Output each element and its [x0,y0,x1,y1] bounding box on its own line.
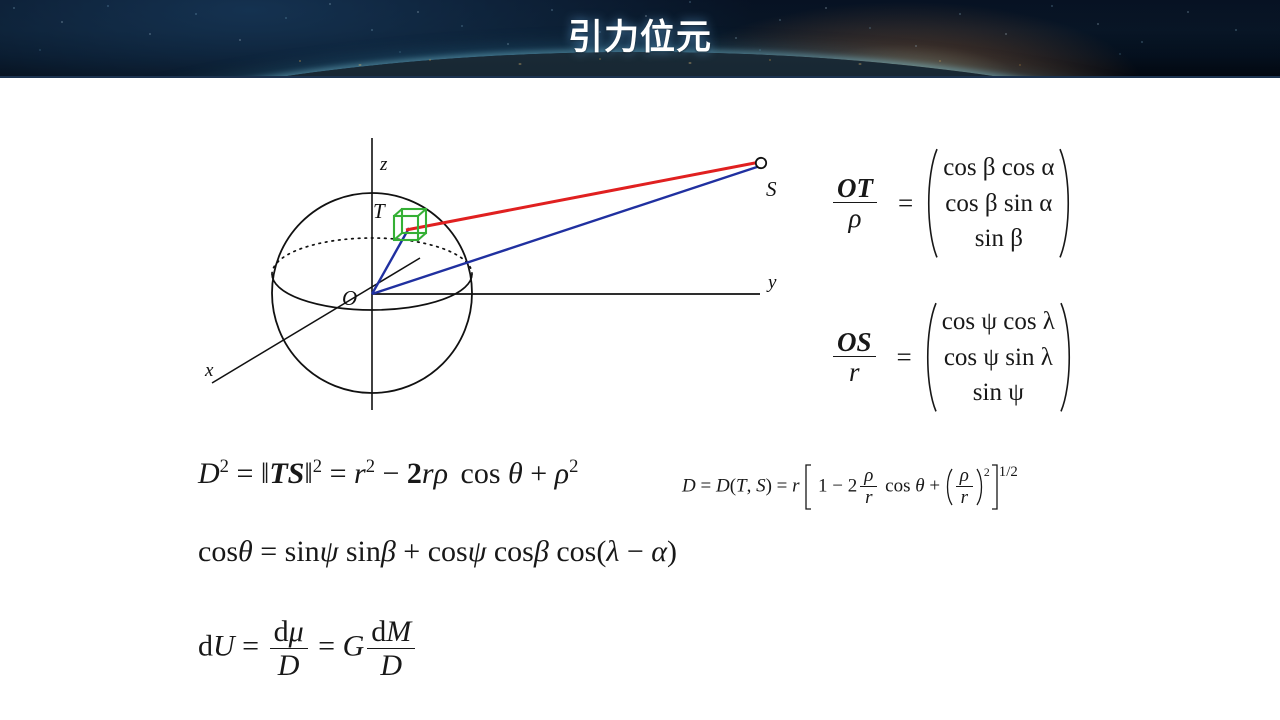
minus-sign-2: − [832,475,843,496]
sup-2d: 2 [569,456,578,477]
sym-beta-2: β [534,535,549,568]
segment-TS [406,162,760,230]
left-paren-rr [945,468,953,506]
sym-alpha-1: α [651,535,667,568]
cos-2: cos [885,475,910,496]
paren-open-la: ( [596,535,606,568]
left-bracket [804,464,813,510]
cos-3: cos [198,535,238,568]
os-components: cos ψ cos λ cos ψ sin λ sin ψ [938,300,1059,415]
eq-sign-3: = [700,475,711,496]
equation-distance-squared: D2 = ‖TS‖2 = r2 − 2rρ cos θ + ρ2 [198,456,578,491]
sym-rho-2: ρ [555,457,569,490]
sym-TS: TS [269,457,304,490]
slide-body: z y x O T S OT ρ = cos β cos α cos β sin… [0,78,1280,720]
ot-components: cos β cos α cos β sin α sin β [939,146,1058,261]
segment-OS [372,166,760,294]
sym-G: G [343,630,365,663]
d-operator-2: d [274,615,289,648]
sym-psi-1: ψ [320,535,339,568]
eq-sign-5: = [260,535,277,568]
z-axis-label: z [379,154,388,175]
equation-unit-vector-OS: OS r = cos ψ cos λ cos ψ sin λ sin ψ [830,300,1075,415]
sym-r-1: r [354,457,366,490]
const-1: 1 [818,475,828,496]
geometry-figure: z y x O T S [190,128,810,418]
d-mu-over-D: dμ D [270,616,308,682]
minus-sign-1: − [382,457,399,490]
sym-theta-1: θ [508,457,523,490]
os-denominator: r [833,356,876,387]
minus-sign-3: − [627,535,644,568]
eq-sign-4: = [777,475,788,496]
paren-close-ts: ) [766,475,772,496]
sym-r-2: r [422,457,434,490]
ot-component-3: sin β [975,221,1023,257]
coef-2b: 2 [848,475,858,496]
point-T-label: T [373,199,386,223]
eq-sign-2: = [330,457,347,490]
d-operator-1: d [198,630,213,663]
sym-lambda-1: λ [606,535,619,568]
sin-2: sin [346,535,381,568]
figure-svg: z y x O T S [190,128,810,418]
right-paren-rr [976,468,984,506]
plus-sign-3: + [403,535,420,568]
ot-lhs-fraction: OT ρ [830,174,880,233]
eq-sign-6: = [242,630,259,663]
point-S-marker [756,158,766,168]
plus-sign-1: + [530,457,547,490]
cos-5: cos [494,535,534,568]
eq-sign-1: = [236,457,253,490]
ot-denominator: ρ [833,202,877,233]
norm-close: ‖ [304,457,312,490]
bracket-group: 1 − 2ρr cos θ + ρr 2 1/2 [804,464,1017,510]
D-denominator-2: D [367,648,415,682]
os-component-1: cos ψ cos λ [942,304,1055,340]
sym-psi-2: ψ [468,535,487,568]
ot-numerator: OT [833,174,877,203]
equation-distance-expanded: D = D(T, S) = r 1 − 2ρr cos θ + ρr [682,464,1018,510]
sym-D-2: D [682,475,696,496]
sym-D: D [198,457,220,490]
right-paren-ot [1058,146,1074,261]
rho-num-1: ρ [860,466,877,486]
ot-component-2: cos β sin α [945,186,1052,222]
eq-sign-7: = [318,630,335,663]
d-M-numerator: dM [367,616,415,648]
sym-mu: μ [289,615,304,648]
x-axis [212,258,420,383]
rho-over-r-paren-group: ρr [945,466,984,508]
os-numerator: OS [833,328,876,357]
sym-theta-3: θ [238,535,253,568]
rho-over-r-2: ρr [956,466,973,508]
right-bracket [990,464,999,510]
point-S-label: S [766,177,777,201]
equation-differential-potential: dU = dμ D = G dM D [198,616,418,682]
mass-element-cube [394,209,426,240]
right-paren-os [1059,300,1075,415]
x-axis-label: x [204,360,214,381]
ot-equals-sign: = [898,188,913,219]
sin-1: sin [285,535,320,568]
os-component-3: sin ψ [973,375,1024,411]
sym-rho-1: ρ [434,457,448,490]
d-mu-numerator: dμ [270,616,308,648]
ot-component-1: cos β cos α [943,150,1054,186]
sym-theta-2: θ [915,475,924,496]
y-axis-label: y [766,272,777,293]
sym-S-2: S [756,475,766,496]
sym-M: M [386,615,411,648]
equation-cos-theta: cosθ = sinψ sinβ + cosψ cosβ cos(λ − α) [198,535,677,569]
d-operator-3: d [371,615,386,648]
bracket-contents: 1 − 2ρr cos θ + ρr 2 [818,466,990,508]
sup-2c: 2 [366,456,375,477]
sym-beta-1: β [381,535,396,568]
sym-U: U [213,630,235,663]
cos-6: cos [556,535,596,568]
r-den-1: r [860,486,877,508]
left-paren-os [922,300,938,415]
rho-num-2: ρ [956,466,973,486]
coef-2: 2 [407,457,422,490]
os-component-2: cos ψ sin λ [944,340,1053,376]
cos-1: cos [461,457,501,490]
exponent-one-half: 1/2 [999,464,1018,480]
sym-T-2: T [736,475,747,496]
os-equals-sign: = [897,342,912,373]
os-lhs-fraction: OS r [830,328,879,387]
sym-D-3: D [716,475,730,496]
left-paren-ot [923,146,939,261]
sym-r-3: r [792,475,799,496]
sup-2a: 2 [220,456,229,477]
sup-2b: 2 [313,456,322,477]
plus-sign-2: + [929,475,940,496]
cos-4: cos [428,535,468,568]
paren-close-la: ) [667,535,677,568]
r-den-2: r [956,486,973,508]
equation-unit-vector-OT: OT ρ = cos β cos α cos β sin α sin β [830,146,1074,261]
page-title: 引力位元 [0,9,1280,60]
point-O-label: O [342,286,357,310]
D-denominator-1: D [270,648,308,682]
comma-ts: , [747,475,757,496]
d-M-over-D: dM D [367,616,415,682]
rho-over-r-1: ρr [860,466,877,508]
